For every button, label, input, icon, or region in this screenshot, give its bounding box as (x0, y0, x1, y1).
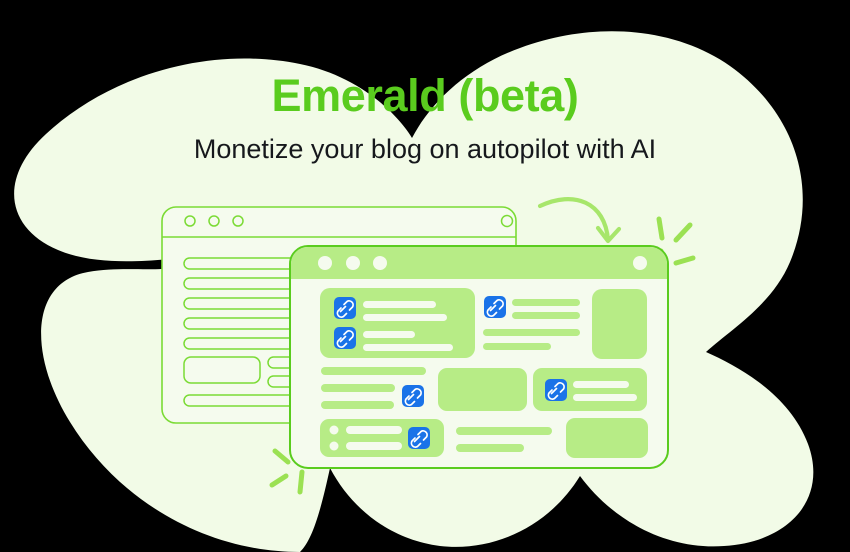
card-text-short-bar-1 (456, 427, 552, 435)
front-window-traffic-dot-1 (318, 256, 332, 270)
card-link-right-bar-1 (573, 381, 629, 388)
card-bullet-list-bar-2 (346, 442, 402, 450)
card-bullet-list-bar-1 (346, 426, 402, 434)
card-link-right (533, 368, 647, 411)
card-link-single-bar-2 (512, 312, 580, 319)
bullet-dot-1 (330, 426, 339, 435)
card-bullet-list (320, 419, 444, 457)
card-link-list (320, 288, 475, 358)
browser-windows-illustration (0, 0, 850, 552)
card-link-right-bar-2 (573, 394, 637, 401)
card-text-block-bar-3 (321, 401, 394, 409)
card-link-single-bar-1 (512, 299, 580, 306)
sparkle-ray-3 (676, 258, 693, 263)
card-link-list-bar-1 (363, 301, 436, 308)
front-browser-window (290, 246, 668, 468)
curved-arrow-path (540, 199, 608, 240)
sparkle-ray-2 (272, 476, 286, 485)
link-icon (334, 327, 356, 349)
card-text-short-bar-2 (456, 444, 524, 452)
card-text-block (321, 367, 426, 409)
card-image-small (566, 418, 648, 458)
card-image-tall (592, 289, 647, 359)
card-text-block-bar-2 (321, 384, 395, 392)
link-icon (484, 296, 506, 318)
card-text-block-bar-1 (321, 367, 426, 375)
front-window-traffic-dot-3 (373, 256, 387, 270)
bullet-dot-2 (330, 442, 339, 451)
sparkle-ray-1 (275, 451, 288, 462)
link-icon (545, 379, 567, 401)
row-middle (321, 367, 647, 411)
link-icon (402, 385, 424, 407)
sparkle-ray-1 (659, 219, 662, 238)
card-link-list-bar-4 (363, 344, 453, 351)
card-link-list-bar-2 (363, 314, 447, 321)
sparkle-ray-2 (676, 225, 690, 240)
sparkle-ray-3 (300, 472, 302, 492)
hero-illustration-screen: Emerald (beta) Monetize your blog on aut… (0, 0, 850, 552)
card-image-wide (438, 368, 527, 411)
card-link-single-bar-4 (483, 343, 551, 350)
front-window-menu-dot (633, 256, 647, 270)
card-link-list-bar-3 (363, 331, 415, 338)
curved-arrow (540, 199, 619, 241)
link-icon (334, 297, 356, 319)
front-window-traffic-dot-2 (346, 256, 360, 270)
card-link-single-bar-3 (483, 329, 580, 336)
link-icon (408, 427, 430, 449)
